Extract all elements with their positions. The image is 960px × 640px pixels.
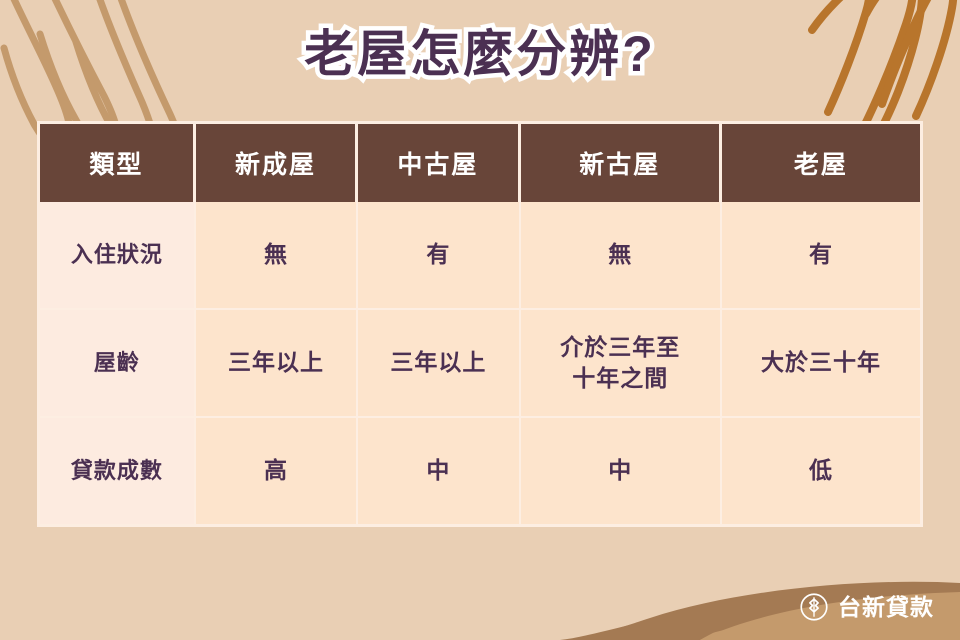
- infographic-canvas: 老屋怎麼分辨? 類型 新成屋 中古屋 新古屋 老屋 入住狀況 無 有 無 有 屋…: [0, 0, 960, 640]
- brand-logo: 台新貸款: [799, 592, 934, 622]
- comparison-table: 類型 新成屋 中古屋 新古屋 老屋 入住狀況 無 有 無 有 屋齡 三年以上 三…: [40, 124, 920, 524]
- cell-occupancy-new-house: 無: [196, 202, 358, 310]
- taishin-circle-logo-icon: [799, 592, 829, 622]
- cell-loan-ratio-new-house: 高: [196, 418, 358, 524]
- cell-occupancy-newly-old-house: 無: [521, 202, 722, 310]
- cell-loan-ratio-second-hand-house: 中: [358, 418, 520, 524]
- cell-loan-ratio-newly-old-house: 中: [521, 418, 722, 524]
- column-header-old-house: 老屋: [722, 124, 920, 202]
- cell-occupancy-second-hand-house: 有: [358, 202, 520, 310]
- table-header: 類型 新成屋 中古屋 新古屋 老屋: [40, 124, 920, 202]
- column-header-newly-old-house: 新古屋: [521, 124, 722, 202]
- cell-house-age-old-house: 大於三十年: [722, 310, 920, 418]
- brand-logo-text: 台新貸款: [838, 596, 934, 619]
- column-header-type: 類型: [40, 124, 196, 202]
- cell-loan-ratio-old-house: 低: [722, 418, 920, 524]
- cell-house-age-newly-old-house: 介於三年至十年之間: [521, 310, 722, 418]
- table-row: 貸款成數 高 中 中 低: [40, 418, 920, 524]
- row-label-house-age: 屋齡: [40, 310, 196, 418]
- column-header-new-house: 新成屋: [196, 124, 358, 202]
- cell-house-age-second-hand-house: 三年以上: [358, 310, 520, 418]
- table-header-row: 類型 新成屋 中古屋 新古屋 老屋: [40, 124, 920, 202]
- row-label-occupancy: 入住狀況: [40, 202, 196, 310]
- title-container: 老屋怎麼分辨?: [0, 24, 960, 84]
- table-row: 屋齡 三年以上 三年以上 介於三年至十年之間 大於三十年: [40, 310, 920, 418]
- column-header-second-hand-house: 中古屋: [358, 124, 520, 202]
- cell-house-age-new-house: 三年以上: [196, 310, 358, 418]
- page-title: 老屋怎麼分辨?: [304, 24, 656, 84]
- cell-occupancy-old-house: 有: [722, 202, 920, 310]
- table-body: 入住狀況 無 有 無 有 屋齡 三年以上 三年以上 介於三年至十年之間 大於三十…: [40, 202, 920, 524]
- row-label-loan-ratio: 貸款成數: [40, 418, 196, 524]
- table-row: 入住狀況 無 有 無 有: [40, 202, 920, 310]
